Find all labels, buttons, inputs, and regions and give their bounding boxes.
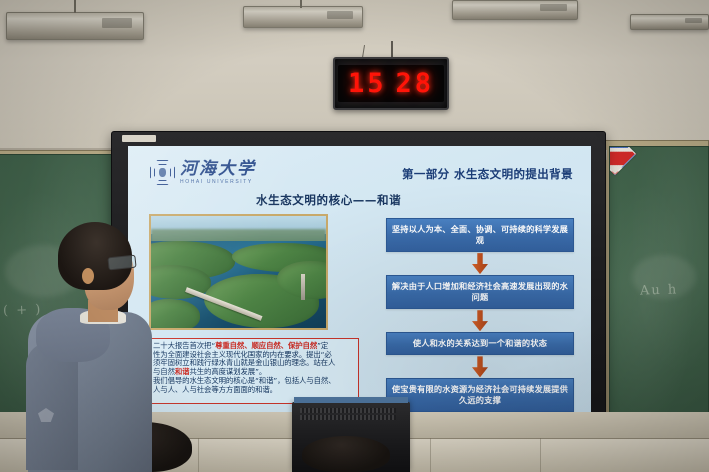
clock-hanger — [391, 41, 393, 58]
standing-student — [22, 222, 152, 472]
caption-text: 二十大报告首次把“ — [153, 341, 215, 350]
caption-text: 须牢固树立和践行绿水青山就是金山银山的理念。站在人 — [153, 358, 335, 367]
seated-student-head — [302, 436, 390, 472]
flow-step-box: 使人和水的关系达到一个和谐的状态 — [386, 332, 574, 355]
photo-tower — [301, 274, 305, 300]
caption-highlight: 尊重自然、顺应自然、保护自然 — [215, 341, 317, 350]
ceiling-light-right — [452, 0, 578, 20]
flow-step-box: 坚持以人为本、全面、协调、可持续的科学发展观 — [386, 218, 574, 252]
monitor-screen-edge — [294, 397, 408, 403]
logo-text-block: 河海大学 HOHAI UNIVERSITY — [180, 161, 256, 185]
monitor-vent — [300, 415, 396, 420]
ceiling-light-center — [243, 6, 363, 28]
clock-face: 15 28 — [338, 65, 443, 102]
interactive-smart-display[interactable]: 河海大学 HOHAI UNIVERSITY 第一部分 水生态文明的提出背景 水生… — [111, 131, 606, 440]
caption-text: 共生的高度谋划发展”。 — [189, 367, 266, 376]
flow-step-box: 使宝贵有限的水资源为经济社会可持续发展提供久远的支撑 — [386, 378, 574, 412]
desk-panel-seam — [540, 438, 541, 472]
desk-panel-seam — [198, 438, 199, 472]
flow-arrow-down-icon — [386, 309, 574, 332]
chalk-writing-right: Au h — [640, 282, 679, 298]
photo-land-mass — [149, 299, 200, 330]
flow-arrow-down-icon — [386, 355, 574, 378]
digital-wall-clock: 15 28 — [333, 57, 449, 110]
display-brand-label — [122, 135, 156, 142]
clock-hours: 15 — [348, 70, 387, 97]
presentation-slide: 河海大学 HOHAI UNIVERSITY 第一部分 水生态文明的提出背景 水生… — [128, 146, 591, 416]
ceiling-light-left — [6, 12, 144, 40]
corner-sticker-icon — [609, 146, 636, 175]
ceiling-light-far-right — [630, 14, 709, 30]
lamp-stem-center — [300, 0, 302, 8]
caption-text: 与自然 — [153, 367, 175, 376]
hohai-university-emblem-icon — [150, 160, 175, 185]
clock-body: 15 28 — [333, 57, 449, 110]
classroom-photo-scene: 15 28 ( + ) Au h 河海大学 HOHAI UNIVERSITY — [0, 0, 709, 472]
caption-highlight: 和谐 — [175, 367, 190, 376]
logo-name-cn: 河海大学 — [180, 161, 256, 178]
caption-text: 人与人、人与社会等方方面面的和谐。 — [153, 385, 277, 394]
flow-step-box: 解决由于人口增加和经济社会高速发展出现的水问题 — [386, 275, 574, 309]
chalkboard-right: Au h — [609, 146, 709, 438]
student-ear — [82, 268, 94, 284]
university-logo: 河海大学 HOHAI UNIVERSITY — [150, 160, 256, 185]
logo-name-en: HOHAI UNIVERSITY — [180, 180, 256, 185]
caption-line: 人与人、人与社会等方方面面的和谐。 — [153, 386, 354, 395]
caption-text: 我们倡导的水生态文明的核心是“和谐”，包括人与自然、 — [153, 376, 335, 385]
lamp-stem-left — [74, 0, 76, 13]
monitor-vent — [300, 408, 396, 413]
clock-minutes: 28 — [395, 70, 434, 97]
slide-heading: 第一部分 水生态文明的提出背景 — [402, 166, 573, 182]
slide-subtitle: 水生态文明的核心——和谐 — [256, 192, 401, 208]
caption-text: ”定 — [317, 341, 328, 350]
slide-caption-box: 二十大报告首次把“尊重自然、顺应自然、保护自然”定性为全面建设社会主义现代化国家… — [147, 338, 359, 404]
arrow-down-icon — [472, 310, 488, 331]
aerial-reservoir-photo — [149, 214, 328, 330]
arrow-down-icon — [472, 356, 488, 377]
slide-flowchart: 坚持以人为本、全面、协调、可持续的科学发展观解决由于人口增加和经济社会高速发展出… — [386, 218, 574, 412]
desk-panel-seam — [430, 438, 431, 472]
caption-text: 性为全面建设社会主义现代化国家的内在要求。提出“必 — [153, 350, 332, 359]
flow-arrow-down-icon — [386, 252, 574, 275]
arrow-down-icon — [472, 253, 488, 274]
